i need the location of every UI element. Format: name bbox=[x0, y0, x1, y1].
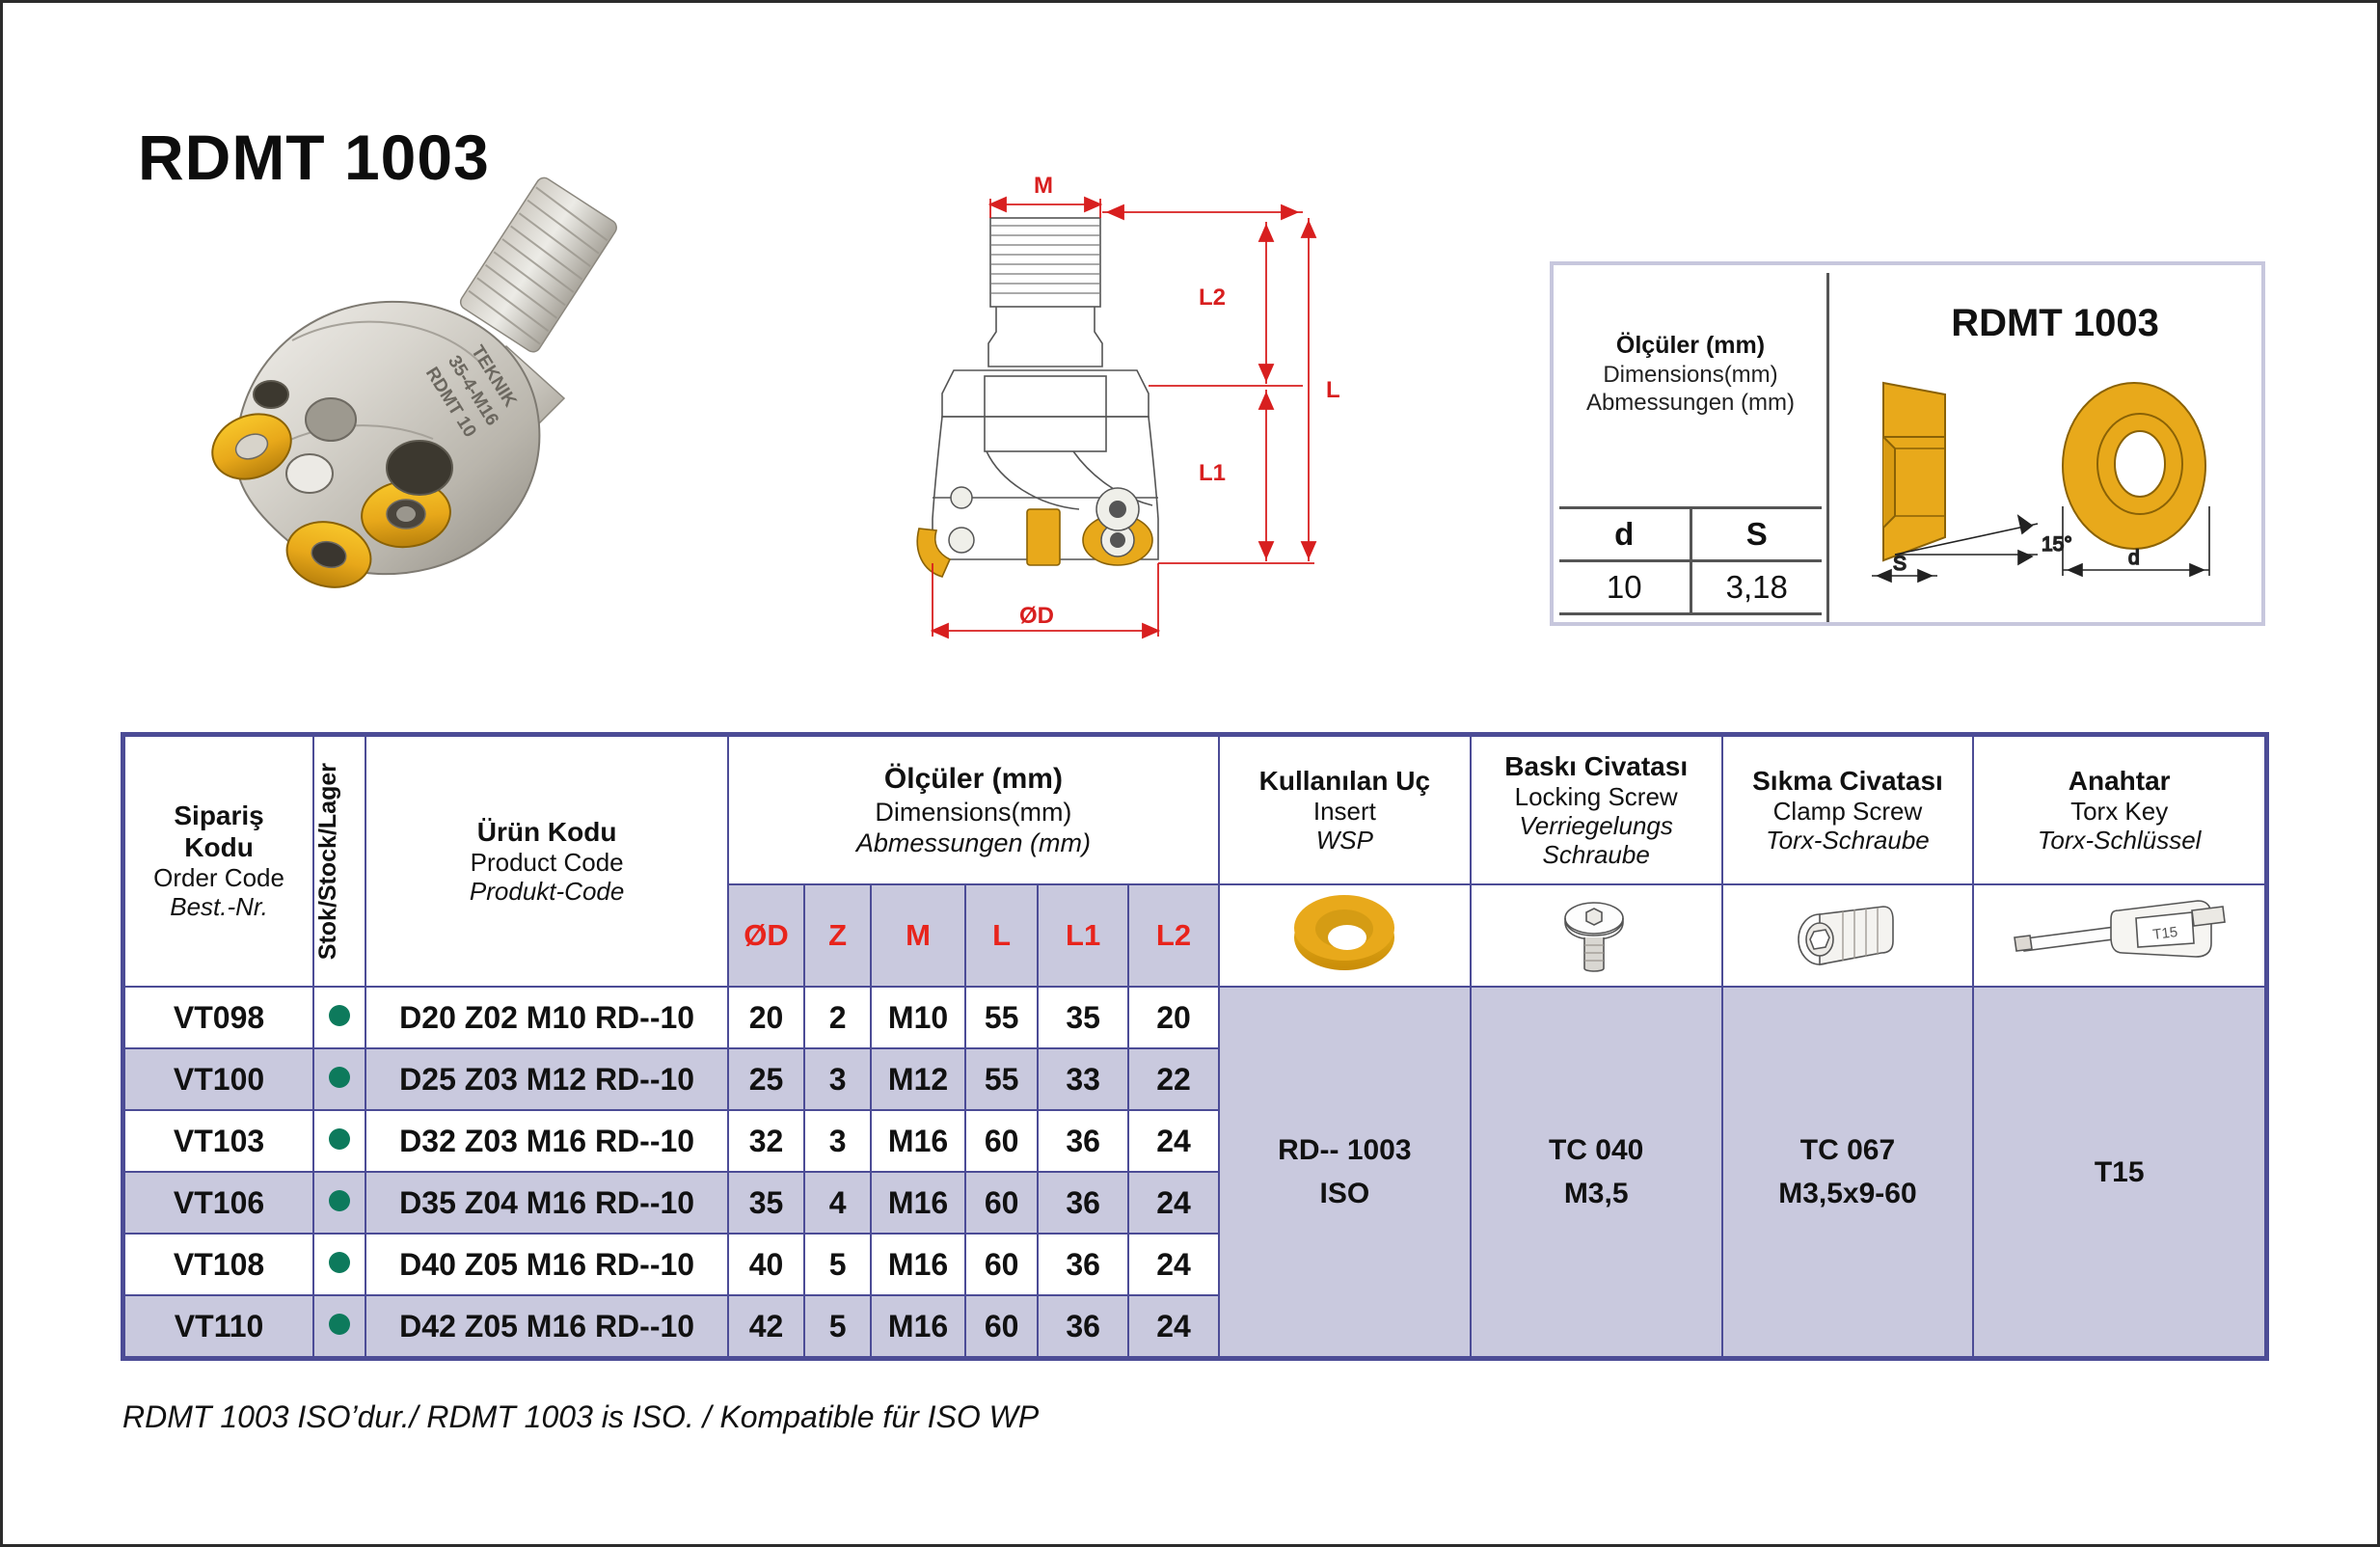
cell-product-code: D20 Z02 M10 RD--10 bbox=[365, 987, 728, 1048]
insert-component-line2: ISO bbox=[1220, 1172, 1470, 1215]
header-insert-en: Insert bbox=[1220, 797, 1470, 826]
locking-screw-line1: TC 040 bbox=[1472, 1128, 1721, 1172]
cell-stock bbox=[313, 1234, 365, 1295]
header-order-code-tr1: Sipariş bbox=[125, 801, 312, 831]
header-product-code: Ürün Kodu Product Code Produkt-Code bbox=[365, 736, 728, 987]
cell-l1: 36 bbox=[1038, 1295, 1128, 1357]
cell-l: 60 bbox=[965, 1295, 1038, 1357]
insert-dimension-box: Ölçüler (mm) Dimensions(mm) Abmessungen … bbox=[1550, 261, 2265, 626]
insert-illustration: 15° S bbox=[1833, 362, 2267, 612]
header-product-code-tr: Ürün Kodu bbox=[366, 817, 727, 848]
cell-od: 25 bbox=[728, 1048, 804, 1110]
cell-stock bbox=[313, 1110, 365, 1172]
cell-l2: 24 bbox=[1128, 1110, 1219, 1172]
cell-order-code: VT110 bbox=[124, 1295, 313, 1357]
drawing-label-l: L bbox=[1326, 377, 1340, 403]
header-dimensions-en: Dimensions(mm) bbox=[729, 797, 1218, 828]
insert-caption-tr: Ölçüler (mm) bbox=[1559, 331, 1822, 361]
cell-stock bbox=[313, 987, 365, 1048]
cell-product-code: D42 Z05 M16 RD--10 bbox=[365, 1295, 728, 1357]
cell-z: 4 bbox=[804, 1172, 871, 1234]
product-photo: TEKNIK 35-4-M16 RDMT 10 bbox=[148, 157, 707, 697]
insert-component-line1: RD-- 1003 bbox=[1220, 1128, 1470, 1172]
dim-header-l2: L2 bbox=[1128, 884, 1219, 987]
header-dimensions-de: Abmessungen (mm) bbox=[729, 828, 1218, 858]
header-insert-tr: Kullanılan Uç bbox=[1220, 766, 1470, 797]
cell-m: M16 bbox=[871, 1172, 965, 1234]
cell-z: 3 bbox=[804, 1048, 871, 1110]
locking-screw-line2: M3,5 bbox=[1472, 1172, 1721, 1215]
cell-l1: 36 bbox=[1038, 1172, 1128, 1234]
clamp-screw-icon bbox=[1775, 889, 1920, 978]
cell-m: M16 bbox=[871, 1295, 965, 1357]
insert-table-header-row: d S bbox=[1559, 509, 1822, 559]
table-header-row-main: Sipariş Kodu Order Code Best.-Nr. Stok/S… bbox=[124, 736, 2265, 884]
cell-insert-component: RD-- 1003 ISO bbox=[1219, 987, 1471, 1357]
cell-l: 60 bbox=[965, 1234, 1038, 1295]
clamp-screw-icon-cell bbox=[1722, 884, 1974, 987]
cell-od: 32 bbox=[728, 1110, 804, 1172]
header-torx-key-en: Torx Key bbox=[1974, 797, 2264, 826]
cell-l1: 36 bbox=[1038, 1110, 1128, 1172]
torx-key-line1: T15 bbox=[1974, 1151, 2264, 1194]
header-stock-label: Stok/Stock/Lager bbox=[314, 763, 342, 960]
cell-product-code: D32 Z03 M16 RD--10 bbox=[365, 1110, 728, 1172]
table-row[interactable]: VT098 D20 Z02 M10 RD--10 20 2 M10 55 35 … bbox=[124, 987, 2265, 1048]
header-product-code-en: Product Code bbox=[366, 848, 727, 877]
insert-table-rule-bottom bbox=[1559, 612, 1822, 615]
stock-dot-icon bbox=[329, 1067, 350, 1088]
stock-dot-icon bbox=[329, 1128, 350, 1150]
header-locking-screw-en: Locking Screw bbox=[1472, 782, 1721, 811]
cell-od: 40 bbox=[728, 1234, 804, 1295]
torx-key-icon-cell: T15 bbox=[1973, 884, 2265, 987]
cell-order-code: VT108 bbox=[124, 1234, 313, 1295]
cell-od: 42 bbox=[728, 1295, 804, 1357]
cell-product-code: D25 Z03 M12 RD--10 bbox=[365, 1048, 728, 1110]
insert-d-label: d bbox=[2128, 547, 2140, 569]
dim-header-m: M bbox=[871, 884, 965, 987]
cell-l: 55 bbox=[965, 987, 1038, 1048]
cell-l1: 36 bbox=[1038, 1234, 1128, 1295]
clamp-screw-line1: TC 067 bbox=[1723, 1128, 1973, 1172]
drawing-label-l2: L2 bbox=[1199, 285, 1226, 311]
insert-header-s: S bbox=[1692, 509, 1823, 559]
cell-l1: 33 bbox=[1038, 1048, 1128, 1110]
specification-table: Sipariş Kodu Order Code Best.-Nr. Stok/S… bbox=[121, 732, 2269, 1361]
cell-od: 35 bbox=[728, 1172, 804, 1234]
cell-z: 3 bbox=[804, 1110, 871, 1172]
header-locking-screw: Baskı Civatası Locking Screw Verriegelun… bbox=[1471, 736, 1722, 884]
header-insert-de: WSP bbox=[1220, 826, 1470, 855]
insert-dimension-table: d S 10 3,18 bbox=[1559, 506, 1822, 615]
header-torx-key-de: Torx-Schlüssel bbox=[1974, 826, 2264, 855]
cell-l2: 20 bbox=[1128, 987, 1219, 1048]
insert-value-s: 3,18 bbox=[1692, 562, 1823, 612]
round-insert-icon bbox=[1272, 889, 1417, 978]
locking-screw-icon bbox=[1538, 889, 1654, 978]
insert-value-d: 10 bbox=[1559, 562, 1690, 612]
cell-order-code: VT103 bbox=[124, 1110, 313, 1172]
cell-locking-screw-component: TC 040 M3,5 bbox=[1471, 987, 1722, 1357]
header-order-code-en: Order Code bbox=[125, 863, 312, 892]
insert-table-value-row: 10 3,18 bbox=[1559, 562, 1822, 612]
cell-m: M12 bbox=[871, 1048, 965, 1110]
stock-dot-icon bbox=[329, 1314, 350, 1335]
header-torx-key: Anahtar Torx Key Torx-Schlüssel bbox=[1973, 736, 2265, 884]
insert-angle-label: 15° bbox=[2042, 533, 2072, 556]
dim-header-z: Z bbox=[804, 884, 871, 987]
header-order-code-de: Best.-Nr. bbox=[125, 892, 312, 921]
technical-drawing: M L2 L1 L ØD bbox=[900, 162, 1363, 702]
cell-z: 5 bbox=[804, 1295, 871, 1357]
cell-stock bbox=[313, 1295, 365, 1357]
cell-m: M16 bbox=[871, 1234, 965, 1295]
cell-l2: 22 bbox=[1128, 1048, 1219, 1110]
stock-dot-icon bbox=[329, 1190, 350, 1211]
cell-stock bbox=[313, 1172, 365, 1234]
dim-header-l1: L1 bbox=[1038, 884, 1128, 987]
insert-s-label: S bbox=[1893, 553, 1907, 575]
cell-stock bbox=[313, 1048, 365, 1110]
cell-l2: 24 bbox=[1128, 1295, 1219, 1357]
torx-key-size-label: T15 bbox=[2151, 923, 2178, 942]
header-order-code-tr2: Kodu bbox=[125, 832, 312, 863]
header-product-code-de: Produkt-Code bbox=[366, 877, 727, 906]
cell-order-code: VT106 bbox=[124, 1172, 313, 1234]
cell-l: 60 bbox=[965, 1172, 1038, 1234]
insert-box-caption: Ölçüler (mm) Dimensions(mm) Abmessungen … bbox=[1559, 331, 1822, 417]
cell-product-code: D35 Z04 M16 RD--10 bbox=[365, 1172, 728, 1234]
header-locking-screw-de2: Schraube bbox=[1472, 840, 1721, 869]
torx-key-icon: T15 bbox=[2009, 889, 2231, 978]
insert-header-d: d bbox=[1559, 509, 1690, 559]
stock-dot-icon bbox=[329, 1005, 350, 1026]
cell-l2: 24 bbox=[1128, 1172, 1219, 1234]
header-clamp-screw-de: Torx-Schraube bbox=[1723, 826, 1973, 855]
cell-torx-key-component: T15 bbox=[1973, 987, 2265, 1357]
catalog-page: RDMT 1003 bbox=[0, 0, 2380, 1547]
cell-od: 20 bbox=[728, 987, 804, 1048]
cell-z: 5 bbox=[804, 1234, 871, 1295]
footer-note: RDMT 1003 ISO’dur./ RDMT 1003 is ISO. / … bbox=[122, 1399, 1039, 1435]
cell-order-code: VT100 bbox=[124, 1048, 313, 1110]
drawing-label-l1: L1 bbox=[1199, 460, 1226, 486]
locking-screw-icon-cell bbox=[1471, 884, 1722, 987]
drawing-label-m: M bbox=[1034, 173, 1053, 199]
stock-dot-icon bbox=[329, 1252, 350, 1273]
header-clamp-screw-en: Clamp Screw bbox=[1723, 797, 1973, 826]
cell-l: 55 bbox=[965, 1048, 1038, 1110]
insert-caption-de: Abmessungen (mm) bbox=[1559, 389, 1822, 417]
header-clamp-screw-tr: Sıkma Civatası bbox=[1723, 766, 1973, 797]
header-dimensions-tr: Ölçüler (mm) bbox=[729, 762, 1218, 797]
header-order-code: Sipariş Kodu Order Code Best.-Nr. bbox=[124, 736, 313, 987]
dim-header-l: L bbox=[965, 884, 1038, 987]
cell-product-code: D40 Z05 M16 RD--10 bbox=[365, 1234, 728, 1295]
cell-l2: 24 bbox=[1128, 1234, 1219, 1295]
header-insert: Kullanılan Uç Insert WSP bbox=[1219, 736, 1471, 884]
header-locking-screw-de1: Verriegelungs bbox=[1472, 811, 1721, 840]
header-locking-screw-tr: Baskı Civatası bbox=[1472, 751, 1721, 782]
cell-m: M10 bbox=[871, 987, 965, 1048]
cell-l: 60 bbox=[965, 1110, 1038, 1172]
header-clamp-screw: Sıkma Civatası Clamp Screw Torx-Schraube bbox=[1722, 736, 1974, 884]
clamp-screw-line2: M3,5x9-60 bbox=[1723, 1172, 1973, 1215]
insert-caption-en: Dimensions(mm) bbox=[1559, 361, 1822, 389]
cell-order-code: VT098 bbox=[124, 987, 313, 1048]
header-torx-key-tr: Anahtar bbox=[1974, 766, 2264, 797]
cell-m: M16 bbox=[871, 1110, 965, 1172]
cell-clamp-screw-component: TC 067 M3,5x9-60 bbox=[1722, 987, 1974, 1357]
header-stock: Stok/Stock/Lager bbox=[313, 736, 365, 987]
cell-z: 2 bbox=[804, 987, 871, 1048]
insert-box-divider bbox=[1826, 273, 1829, 622]
drawing-label-od: ØD bbox=[1019, 603, 1054, 629]
cell-l1: 35 bbox=[1038, 987, 1128, 1048]
dim-header-od: ØD bbox=[728, 884, 804, 987]
insert-icon-cell bbox=[1219, 884, 1471, 987]
insert-box-title: RDMT 1003 bbox=[1843, 302, 2267, 345]
header-dimensions-group: Ölçüler (mm) Dimensions(mm) Abmessungen … bbox=[728, 736, 1219, 884]
